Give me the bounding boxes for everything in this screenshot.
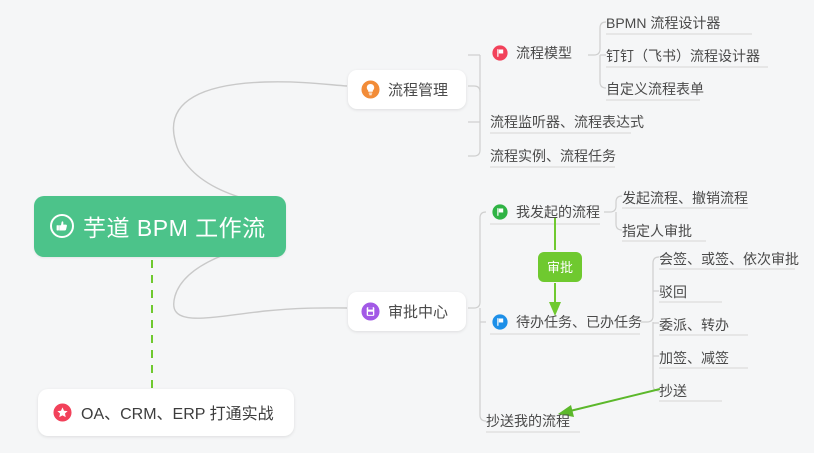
node-label: 会签、或签、依次审批	[659, 249, 799, 269]
node-delegate-transfer[interactable]: 委派、转办	[657, 312, 735, 340]
node-label: 驳回	[659, 282, 687, 302]
node-label: 我发起的流程	[516, 202, 600, 222]
node-start-cancel[interactable]: 发起流程、撤销流程	[620, 185, 754, 213]
document-icon	[361, 302, 380, 321]
branch-approval-center[interactable]: 审批中心	[348, 292, 466, 331]
node-label: 自定义流程表单	[606, 79, 704, 99]
link-ac-trunk-down	[480, 308, 486, 421]
root-node[interactable]: 芋道 BPM 工作流	[34, 196, 286, 257]
node-cc-to-me[interactable]: 抄送我的流程	[484, 408, 576, 436]
node-process-model[interactable]: 流程模型	[490, 40, 578, 68]
node-custom-process-form[interactable]: 自定义流程表单	[604, 76, 710, 104]
flag-icon	[492, 314, 508, 330]
flag-icon	[492, 204, 508, 220]
node-assignee-approval[interactable]: 指定人审批	[620, 218, 698, 246]
branch-label: 审批中心	[388, 301, 448, 322]
node-label: 抄送我的流程	[486, 411, 570, 431]
root-label: 芋道 BPM 工作流	[83, 209, 266, 243]
annotation-approval-tag: 审批	[538, 252, 582, 282]
annotation-integration-callout[interactable]: OA、CRM、ERP 打通实战	[38, 389, 294, 436]
node-label: 加签、减签	[659, 348, 729, 368]
node-label: 委派、转办	[659, 315, 729, 335]
node-reject[interactable]: 驳回	[657, 279, 693, 307]
node-cc[interactable]: 抄送	[657, 378, 693, 406]
node-label: 流程监听器、流程表达式	[490, 112, 644, 132]
node-label: 待办任务、已办任务	[516, 312, 642, 332]
node-countersign[interactable]: 会签、或签、依次审批	[657, 246, 805, 274]
node-todo-done-tasks[interactable]: 待办任务、已办任务	[490, 309, 648, 337]
flag-icon	[492, 45, 508, 61]
mindmap-canvas: 芋道 BPM 工作流 流程管理 流程模型 BPMN 流程设计器 钉钉（飞书）流程…	[0, 0, 814, 453]
node-label: 抄送	[659, 381, 687, 401]
node-my-initiated[interactable]: 我发起的流程	[490, 199, 606, 227]
branch-label: 流程管理	[388, 79, 448, 100]
node-label: 指定人审批	[622, 221, 692, 241]
callout-to-root-arrow	[147, 243, 157, 388]
node-add-remove-sign[interactable]: 加签、减签	[657, 345, 735, 373]
node-dingtalk-feishu-designer[interactable]: 钉钉（飞书）流程设计器	[604, 43, 766, 71]
link-root-to-process-management	[173, 82, 347, 207]
node-bpmn-designer[interactable]: BPMN 流程设计器	[604, 10, 726, 38]
node-label: BPMN 流程设计器	[606, 13, 720, 33]
node-instance-task[interactable]: 流程实例、流程任务	[488, 143, 622, 171]
node-label: 发起流程、撤销流程	[622, 188, 748, 208]
thumbs-up-icon	[50, 214, 74, 238]
tag-label: 审批	[547, 257, 573, 276]
node-label: 流程实例、流程任务	[490, 146, 616, 166]
lightbulb-icon	[361, 80, 380, 99]
star-icon	[53, 403, 72, 422]
callout-label: OA、CRM、ERP 打通实战	[81, 400, 274, 424]
link-pm-to-children	[468, 86, 480, 156]
node-label: 流程模型	[516, 43, 572, 63]
branch-process-management[interactable]: 流程管理	[348, 70, 466, 109]
link-ac-to-children	[468, 212, 486, 308]
node-label: 钉钉（飞书）流程设计器	[606, 46, 760, 66]
node-listener-expression[interactable]: 流程监听器、流程表达式	[488, 109, 650, 137]
